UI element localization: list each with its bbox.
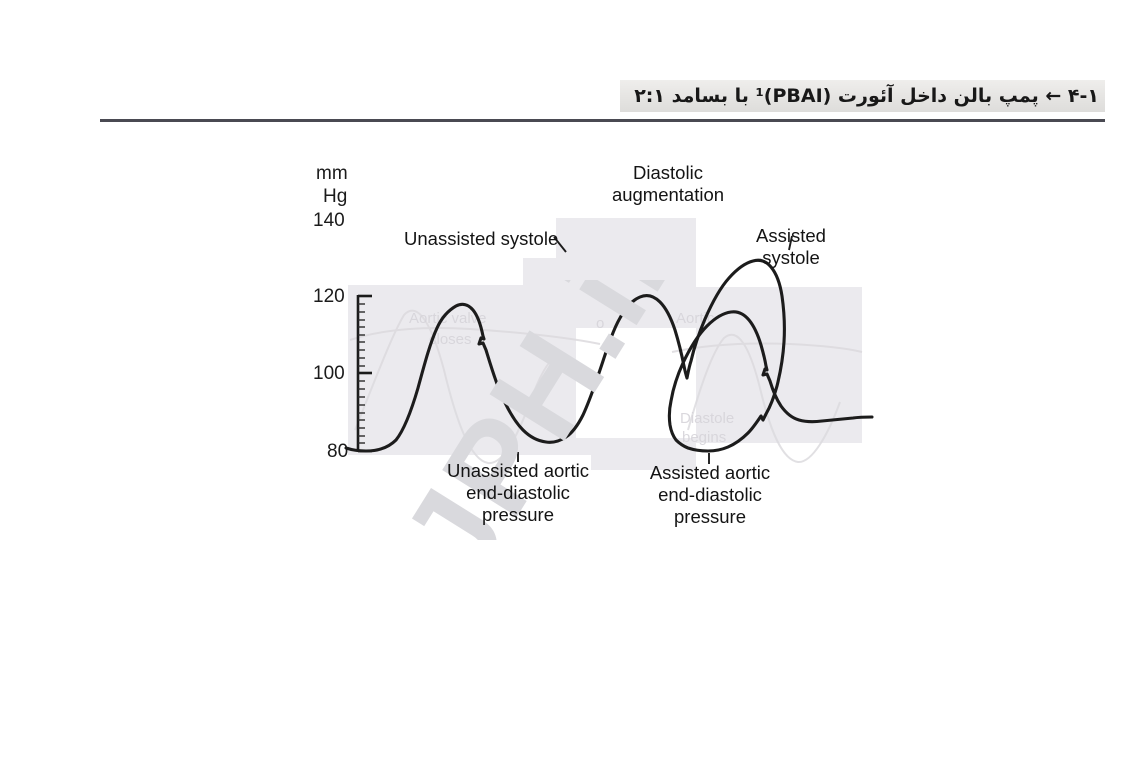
axis-tick-label-140: 140 <box>313 210 345 232</box>
axis-tick-label-120: 120 <box>313 286 345 308</box>
annotation-unassisted-aortic-edp-line1: Unassisted aortic <box>440 460 596 482</box>
annotation-assisted-aortic-edp-line1: Assisted aortic <box>632 462 788 484</box>
chapter-header-title: ۱-۴ ← پمپ بالن داخل آئورت (IABP)¹ با بسا… <box>634 80 1099 112</box>
annotation-unassisted-aortic-edp: Unassisted aortic end-diastolic pressure <box>440 460 596 526</box>
axis-unit-mm: mm <box>316 163 348 185</box>
iabp-waveform-figure: Aortic valve closes Aortic Diastole begi… <box>0 130 1121 550</box>
axis-tick-label-80: 80 <box>327 441 348 463</box>
page-canvas: ۱-۴ ← پمپ بالن داخل آئورت (IABP)¹ با بسا… <box>0 0 1121 768</box>
annotation-assisted-systole-line2: systole <box>735 247 847 269</box>
annotation-unassisted-aortic-edp-line2: end-diastolic <box>440 482 596 504</box>
annotation-assisted-aortic-edp-line3: pressure <box>632 506 788 528</box>
annotation-assisted-aortic-edp: Assisted aortic end-diastolic pressure <box>632 462 788 528</box>
annotation-assisted-systole-line1: Assisted <box>735 225 847 247</box>
annotation-diastolic-augmentation-line1: Diastolic <box>603 162 733 184</box>
axis-tick-label-100: 100 <box>313 363 345 385</box>
header-divider-rule <box>100 119 1105 122</box>
annotation-assisted-aortic-edp-line2: end-diastolic <box>632 484 788 506</box>
chapter-header-band: ۱-۴ ← پمپ بالن داخل آئورت (IABP)¹ با بسا… <box>620 80 1105 112</box>
annotation-unassisted-aortic-edp-line3: pressure <box>440 504 596 526</box>
annotation-diastolic-augmentation-line2: augmentation <box>603 184 733 206</box>
annotation-assisted-systole: Assisted systole <box>735 225 847 269</box>
annotation-unassisted-systole: Unassisted systole <box>404 228 558 250</box>
annotation-unassisted-systole-line1: Unassisted systole <box>404 228 558 250</box>
axis-unit-hg: Hg <box>323 186 347 208</box>
annotation-diastolic-augmentation: Diastolic augmentation <box>603 162 733 206</box>
